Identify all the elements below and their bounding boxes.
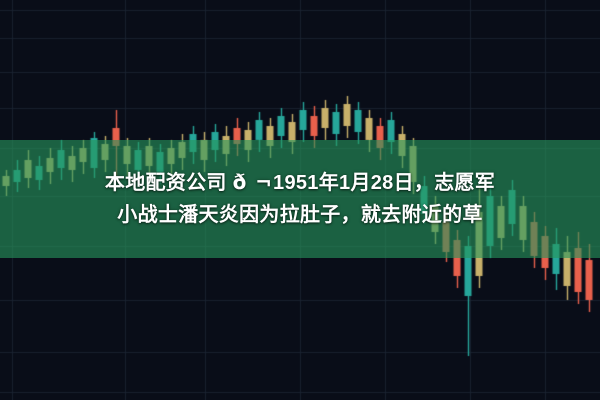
caption-line-1: 本地配资公司 ð ¬1951年1月28日，志愿军 bbox=[105, 170, 495, 197]
caption-overlay: 本地配资公司 ð ¬1951年1月28日，志愿军 小战士潘天炎因为拉肚子，就去附… bbox=[0, 140, 600, 258]
caption-line-1-prefix: 本地配资公司 bbox=[105, 172, 233, 194]
screenshot-root: 本地配资公司 ð ¬1951年1月28日，志愿军 小战士潘天炎因为拉肚子，就去附… bbox=[0, 0, 600, 400]
caption-line-1-suffix: 1951年1月28日，志愿军 bbox=[273, 172, 495, 194]
dolphin-emoji-icon: ð ¬ bbox=[233, 170, 273, 196]
caption-line-2: 小战士潘天炎因为拉肚子，就去附近的草 bbox=[117, 203, 482, 229]
